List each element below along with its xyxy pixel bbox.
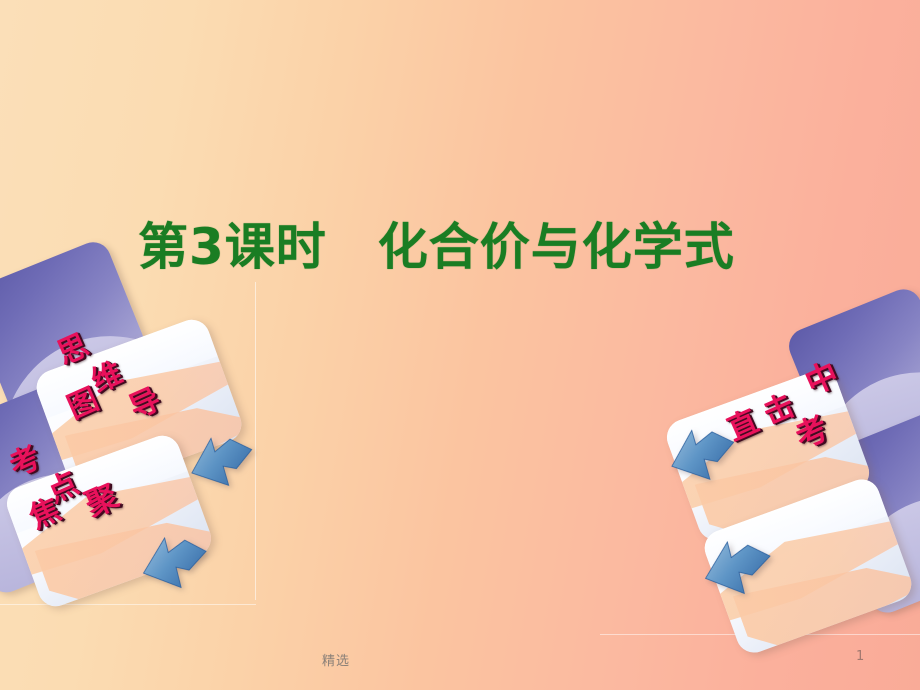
left-decoration-cluster: 思 维 导 图 考 点 聚 焦 (0, 250, 270, 620)
right-decoration-cluster: 直 击 中 考 (660, 300, 920, 640)
page-number: 1 (856, 649, 864, 664)
slide-canvas: 思 维 导 图 考 点 聚 焦 (0, 0, 920, 690)
page-title: 第3课时 化合价与化学式 (138, 214, 735, 280)
footer-label: 精选 (322, 650, 350, 669)
